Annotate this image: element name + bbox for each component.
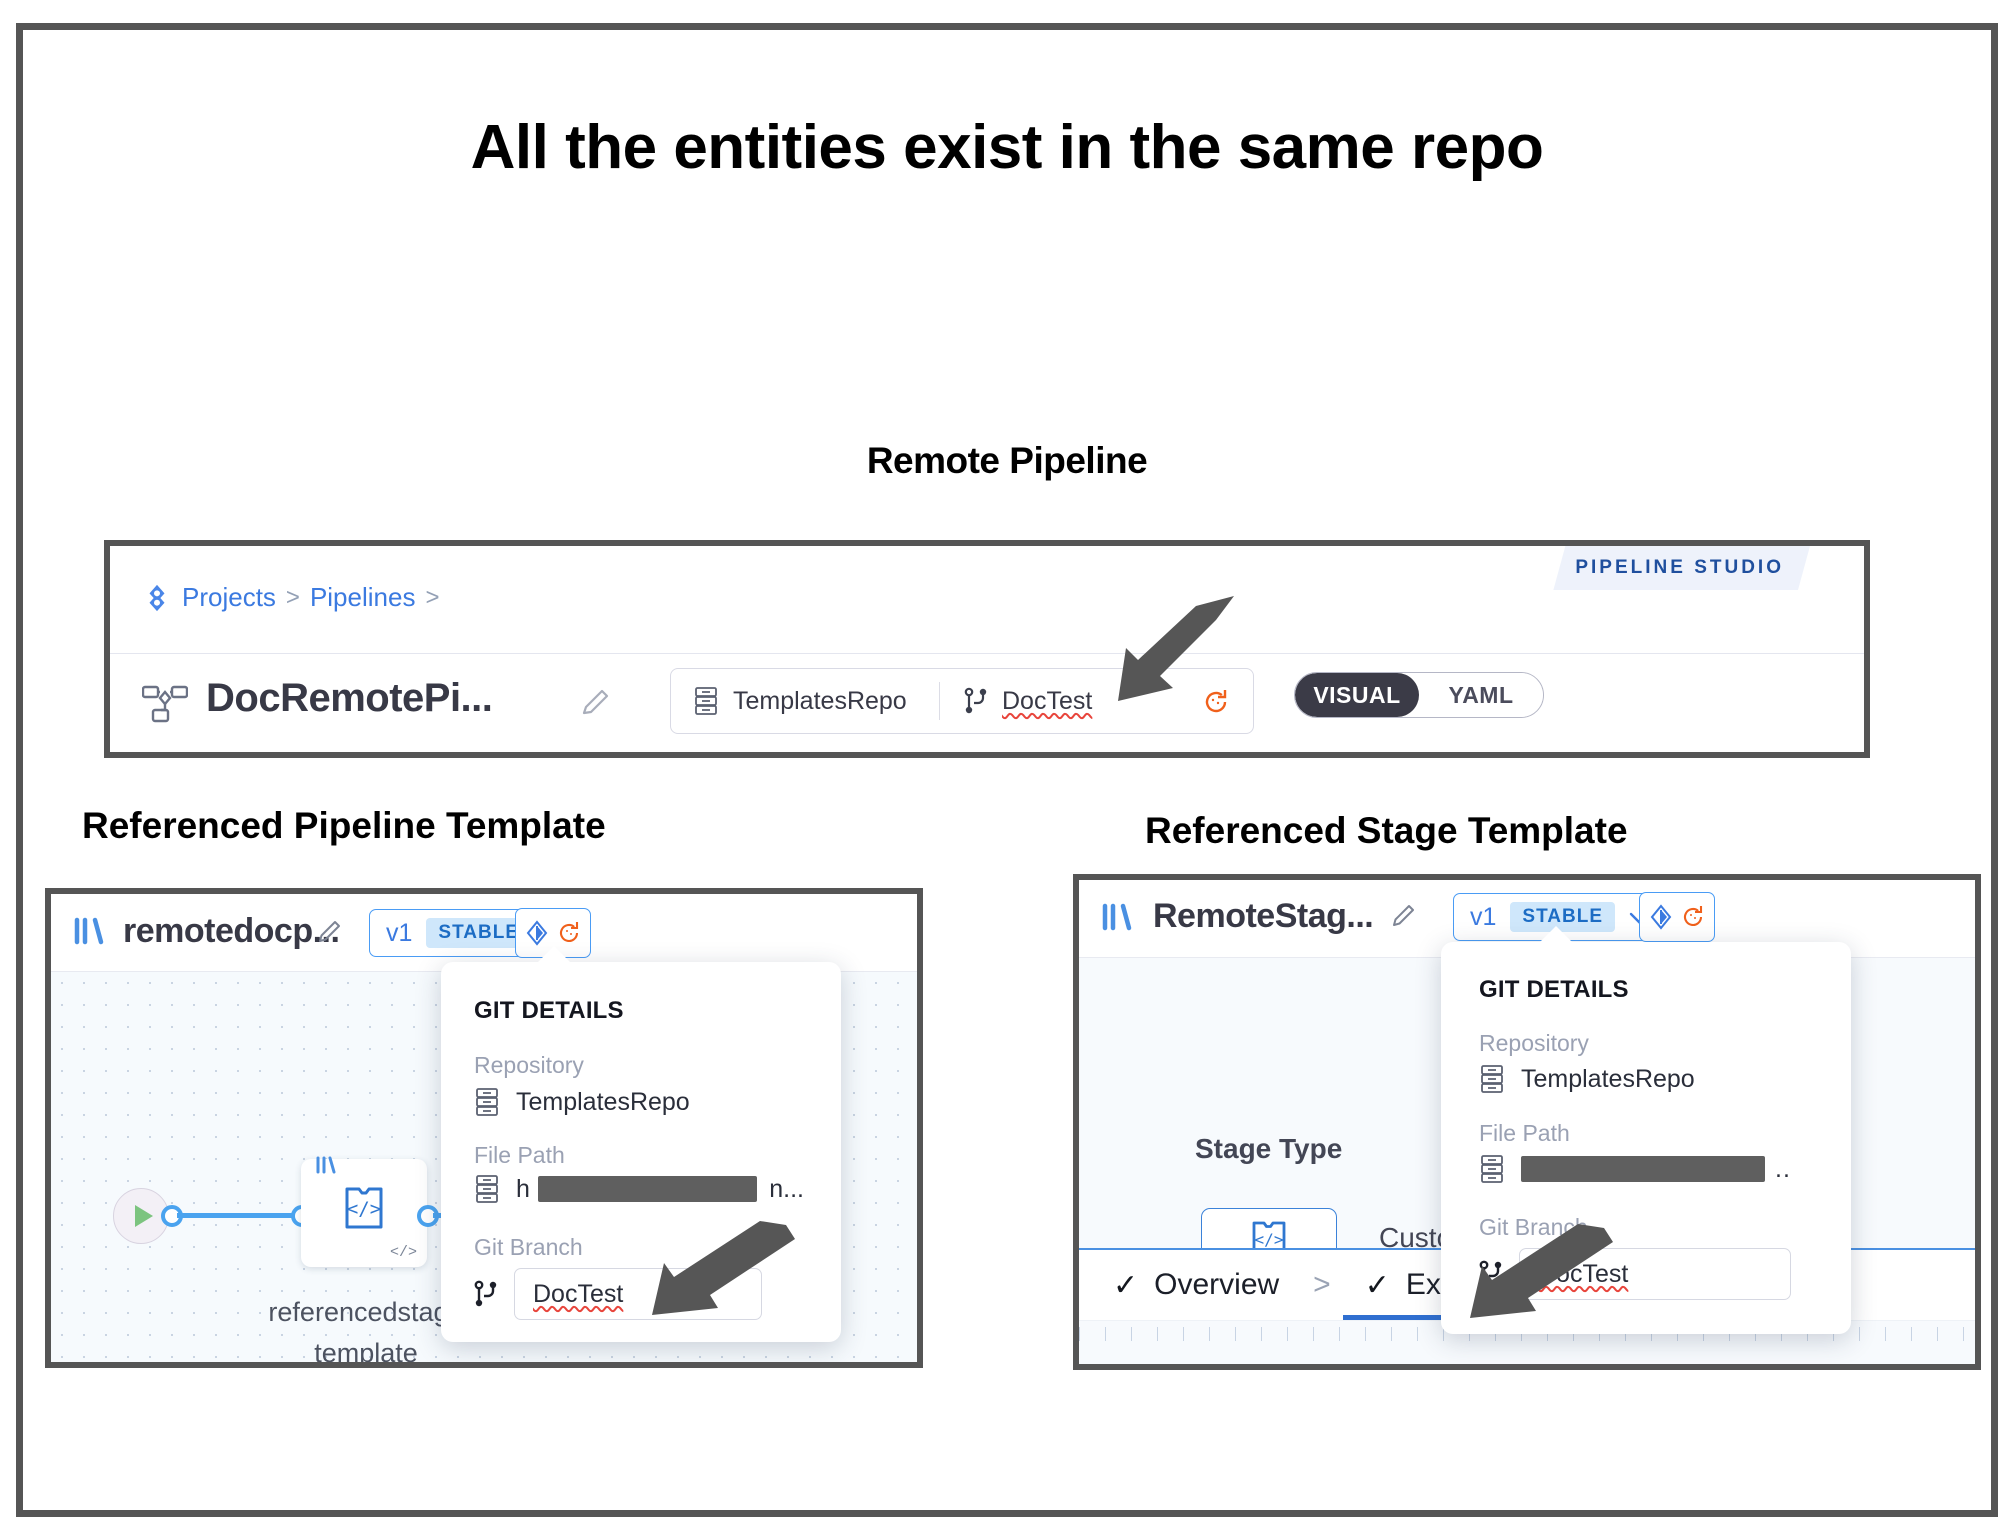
popover-title: GIT DETAILS [1479, 976, 1629, 1004]
branch-name: DocTest [1002, 687, 1092, 716]
reload-icon[interactable] [1681, 904, 1705, 930]
git-branch-label: Git Branch [474, 1234, 583, 1261]
file-path-prefix: h [516, 1175, 530, 1204]
play-icon [135, 1205, 153, 1227]
annotation-arrow-pipeline-template-branch [590, 1215, 820, 1345]
git-branch-icon [964, 687, 988, 715]
repository-chip-item[interactable]: TemplatesRepo [671, 686, 939, 716]
template-bars-icon [1101, 902, 1135, 932]
remote-pipeline-screenshot: Projects > Pipelines > PIPELINE STUDIO D… [104, 540, 1870, 758]
repository-icon [474, 1174, 500, 1204]
git-diamond-icon [1649, 904, 1673, 930]
file-path-value-row: .. [1479, 1154, 1829, 1184]
tab-separator-chevron-icon: > [1301, 1268, 1343, 1302]
repository-value: TemplatesRepo [516, 1088, 690, 1117]
repository-label: Repository [474, 1052, 584, 1079]
tab-overview[interactable]: ✓ Overview [1079, 1250, 1301, 1320]
template-name: remotedocp... [123, 912, 339, 951]
template-name: RemoteStag... [1153, 897, 1373, 936]
breadcrumb-row: Projects > Pipelines > PIPELINE STUDIO [110, 546, 1864, 654]
pencil-icon[interactable] [315, 918, 343, 946]
stable-badge: STABLE [1510, 902, 1615, 932]
repository-value-row: TemplatesRepo [474, 1087, 690, 1117]
page-title: All the entities exist in the same repo [0, 112, 2014, 183]
repository-icon [693, 686, 719, 716]
repository-icon [1479, 1154, 1505, 1184]
section-heading-remote-pipeline: Remote Pipeline [0, 440, 2014, 482]
file-path-value-row: h n... [474, 1174, 804, 1204]
breadcrumb: Projects > Pipelines > [142, 582, 439, 613]
breadcrumb-item-projects[interactable]: Projects [182, 582, 276, 613]
pencil-icon[interactable] [1389, 902, 1417, 930]
svg-text:</>: </> [1255, 1230, 1284, 1249]
template-bars-icon [315, 1155, 337, 1175]
toggle-option-yaml[interactable]: YAML [1419, 673, 1543, 717]
connector-line-1 [177, 1213, 293, 1218]
file-path-redaction-bar [538, 1176, 757, 1202]
stage-type-label: Stage Type [1195, 1133, 1342, 1165]
file-path-suffix: .. [1775, 1155, 1791, 1184]
file-path-label: File Path [1479, 1120, 1570, 1147]
repository-name: TemplatesRepo [733, 687, 907, 716]
pipeline-name-row: DocRemotePi... TemplatesRepo [110, 654, 1864, 752]
section-heading-referenced-pipeline-template: Referenced Pipeline Template [82, 805, 606, 847]
file-path-suffix: n... [769, 1175, 804, 1204]
branch-chip-item[interactable]: DocTest [940, 687, 1092, 716]
git-diamond-icon [525, 920, 549, 946]
git-details-button[interactable] [1639, 892, 1715, 942]
breadcrumb-separator-trailing: > [425, 584, 439, 612]
template-header: remotedocp... v1 STABLE [51, 894, 917, 972]
popover-title: GIT DETAILS [474, 997, 624, 1025]
pencil-icon[interactable] [578, 686, 612, 720]
check-icon: ✓ [1113, 1268, 1138, 1303]
pipeline-studio-badge: PIPELINE STUDIO [1553, 546, 1810, 590]
pipeline-icon [142, 684, 188, 724]
stage-node[interactable]: </> </> [301, 1159, 427, 1267]
annotation-arrow-remote-branch [1088, 578, 1338, 738]
breadcrumb-item-pipelines[interactable]: Pipelines [310, 582, 416, 613]
custom-stage-icon: </> [337, 1181, 391, 1235]
reload-icon[interactable] [557, 920, 581, 946]
version-label: v1 [1470, 903, 1496, 932]
section-heading-referenced-stage-template: Referenced Stage Template [1145, 810, 1628, 852]
breadcrumb-separator: > [286, 584, 300, 612]
repository-icon [474, 1087, 500, 1117]
annotation-arrow-stage-template-branch [1408, 1218, 1638, 1348]
git-branch-icon [474, 1280, 498, 1308]
file-path-label: File Path [474, 1142, 565, 1169]
check-icon: ✓ [1365, 1268, 1390, 1303]
repository-value-row: TemplatesRepo [1479, 1064, 1695, 1094]
file-path-redaction-bar [1521, 1156, 1765, 1182]
repository-icon [1479, 1064, 1505, 1094]
tab-overview-label: Overview [1154, 1268, 1279, 1302]
code-badge-icon: </> [390, 1244, 417, 1261]
repository-label: Repository [1479, 1030, 1589, 1057]
pipeline-name: DocRemotePi... [206, 676, 492, 721]
template-bars-icon [73, 916, 107, 946]
repository-value: TemplatesRepo [1521, 1065, 1695, 1094]
version-label: v1 [386, 919, 412, 948]
svg-text:</>: </> [347, 1198, 381, 1220]
harness-logo-icon [142, 583, 172, 613]
